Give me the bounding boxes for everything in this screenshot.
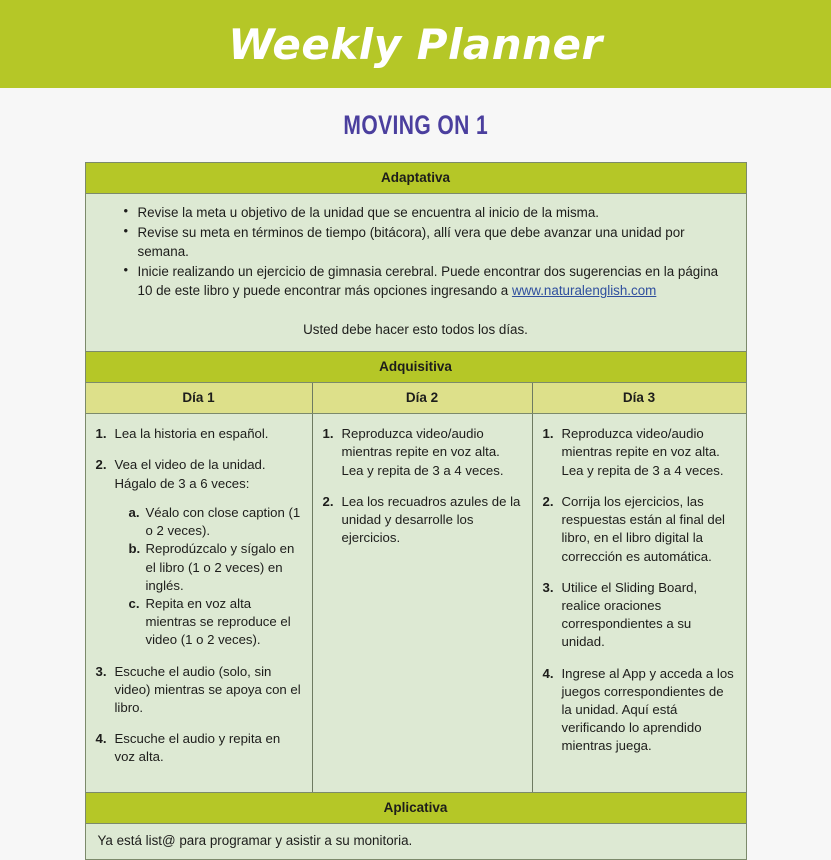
day-3-cell: 1.Reproduzca video/audio mientras repite… [533, 414, 746, 792]
day-header-2: Día 2 [312, 383, 533, 413]
unit-subtitle: MOVING ON 1 [343, 110, 488, 141]
page-banner: Weekly Planner [0, 0, 831, 88]
natural-english-link[interactable]: www.naturalenglish.com [512, 283, 656, 298]
step-number: 4. [96, 730, 107, 748]
list-item: 4.Escuche el audio y repita en voz alta. [96, 730, 302, 766]
list-item: Revise la meta u objetivo de la unidad q… [124, 203, 730, 222]
adaptativa-bullet-list: Revise la meta u objetivo de la unidad q… [102, 203, 730, 300]
section-body-aplicativa: Ya está list@ para programar y asistir a… [86, 824, 746, 859]
step-number: 1. [323, 425, 334, 443]
day-body-row: 1.Lea la historia en español. 2.Vea el v… [86, 414, 746, 792]
list-item: c.Repita en voz alta mientras se reprodu… [129, 595, 302, 650]
step-text: Reproduzca video/audio mientras repite e… [342, 426, 504, 477]
step-text: Utilice el Sliding Board, realice oracio… [562, 580, 698, 650]
list-item: 2.Corrija los ejercicios, las respuestas… [543, 493, 736, 566]
step-number: 2. [543, 493, 554, 511]
day-header-1: Día 1 [86, 383, 312, 413]
step-text: Escuche el audio (solo, sin video) mient… [115, 664, 301, 715]
day-header-3: Día 3 [533, 383, 746, 413]
list-item: 3.Escuche el audio (solo, sin video) mie… [96, 663, 302, 718]
day-1-steps: 1.Lea la historia en español. 2.Vea el v… [96, 425, 302, 767]
substep-text: Repita en voz alta mientras se reproduce… [146, 596, 291, 647]
substep-number: a. [129, 504, 140, 522]
step-text: Escuche el audio y repita en voz alta. [115, 731, 281, 764]
step-text: Ingrese al App y acceda a los juegos cor… [562, 666, 734, 754]
substep-number: c. [129, 595, 140, 613]
step-text: Lea la historia en español. [115, 426, 269, 441]
list-item: 1.Lea la historia en español. [96, 425, 302, 443]
list-item: b.Reprodúzcalo y sígalo en el libro (1 o… [129, 540, 302, 595]
step-number: 2. [323, 493, 334, 511]
step-number: 4. [543, 665, 554, 683]
substep-text: Reprodúzcalo y sígalo en el libro (1 o 2… [146, 541, 295, 592]
list-item: Inicie realizando un ejercicio de gimnas… [124, 262, 730, 300]
day-2-cell: 1.Reproduzca video/audio mientras repite… [312, 414, 533, 792]
step-number: 1. [96, 425, 107, 443]
day-1-substeps: a.Véalo con close caption (1 o 2 veces).… [115, 504, 302, 650]
list-item: a.Véalo con close caption (1 o 2 veces). [129, 504, 302, 540]
adaptativa-note: Usted debe hacer esto todos los días. [102, 320, 730, 339]
planner-table: Adaptativa Revise la meta u objetivo de … [85, 162, 747, 860]
substep-text: Véalo con close caption (1 o 2 veces). [146, 505, 301, 538]
section-heading-adaptativa: Adaptativa [86, 163, 746, 194]
step-text: Reproduzca video/audio mientras repite e… [562, 426, 724, 477]
list-item: 2.Lea los recuadros azules de la unidad … [323, 493, 522, 548]
substep-number: b. [129, 540, 141, 558]
section-heading-adquisitiva: Adquisitiva [86, 351, 746, 383]
step-number: 3. [96, 663, 107, 681]
step-text: Lea los recuadros azules de la unidad y … [342, 494, 521, 545]
page-title: Weekly Planner [228, 20, 602, 69]
section-heading-aplicativa: Aplicativa [86, 792, 746, 824]
list-item: 1.Reproduzca video/audio mientras repite… [323, 425, 522, 480]
step-text: Corrija los ejercicios, las respuestas e… [562, 494, 725, 564]
step-number: 2. [96, 456, 107, 474]
day-1-cell: 1.Lea la historia en español. 2.Vea el v… [86, 414, 312, 792]
step-number: 3. [543, 579, 554, 597]
day-3-steps: 1.Reproduzca video/audio mientras repite… [543, 425, 736, 756]
step-number: 1. [543, 425, 554, 443]
day-header-row: Día 1 Día 2 Día 3 [86, 383, 746, 414]
list-item: 3.Utilice el Sliding Board, realice orac… [543, 579, 736, 652]
list-item: 1.Reproduzca video/audio mientras repite… [543, 425, 736, 480]
day-2-steps: 1.Reproduzca video/audio mientras repite… [323, 425, 522, 547]
subtitle-container: MOVING ON 1 [0, 88, 831, 162]
step-text: Vea el video de la unidad. Hágalo de 3 a… [115, 457, 266, 490]
list-item: 4.Ingrese al App y acceda a los juegos c… [543, 665, 736, 756]
list-item: Revise su meta en términos de tiempo (bi… [124, 223, 730, 261]
section-body-adaptativa: Revise la meta u objetivo de la unidad q… [86, 194, 746, 351]
list-item: 2.Vea el video de la unidad. Hágalo de 3… [96, 456, 302, 649]
